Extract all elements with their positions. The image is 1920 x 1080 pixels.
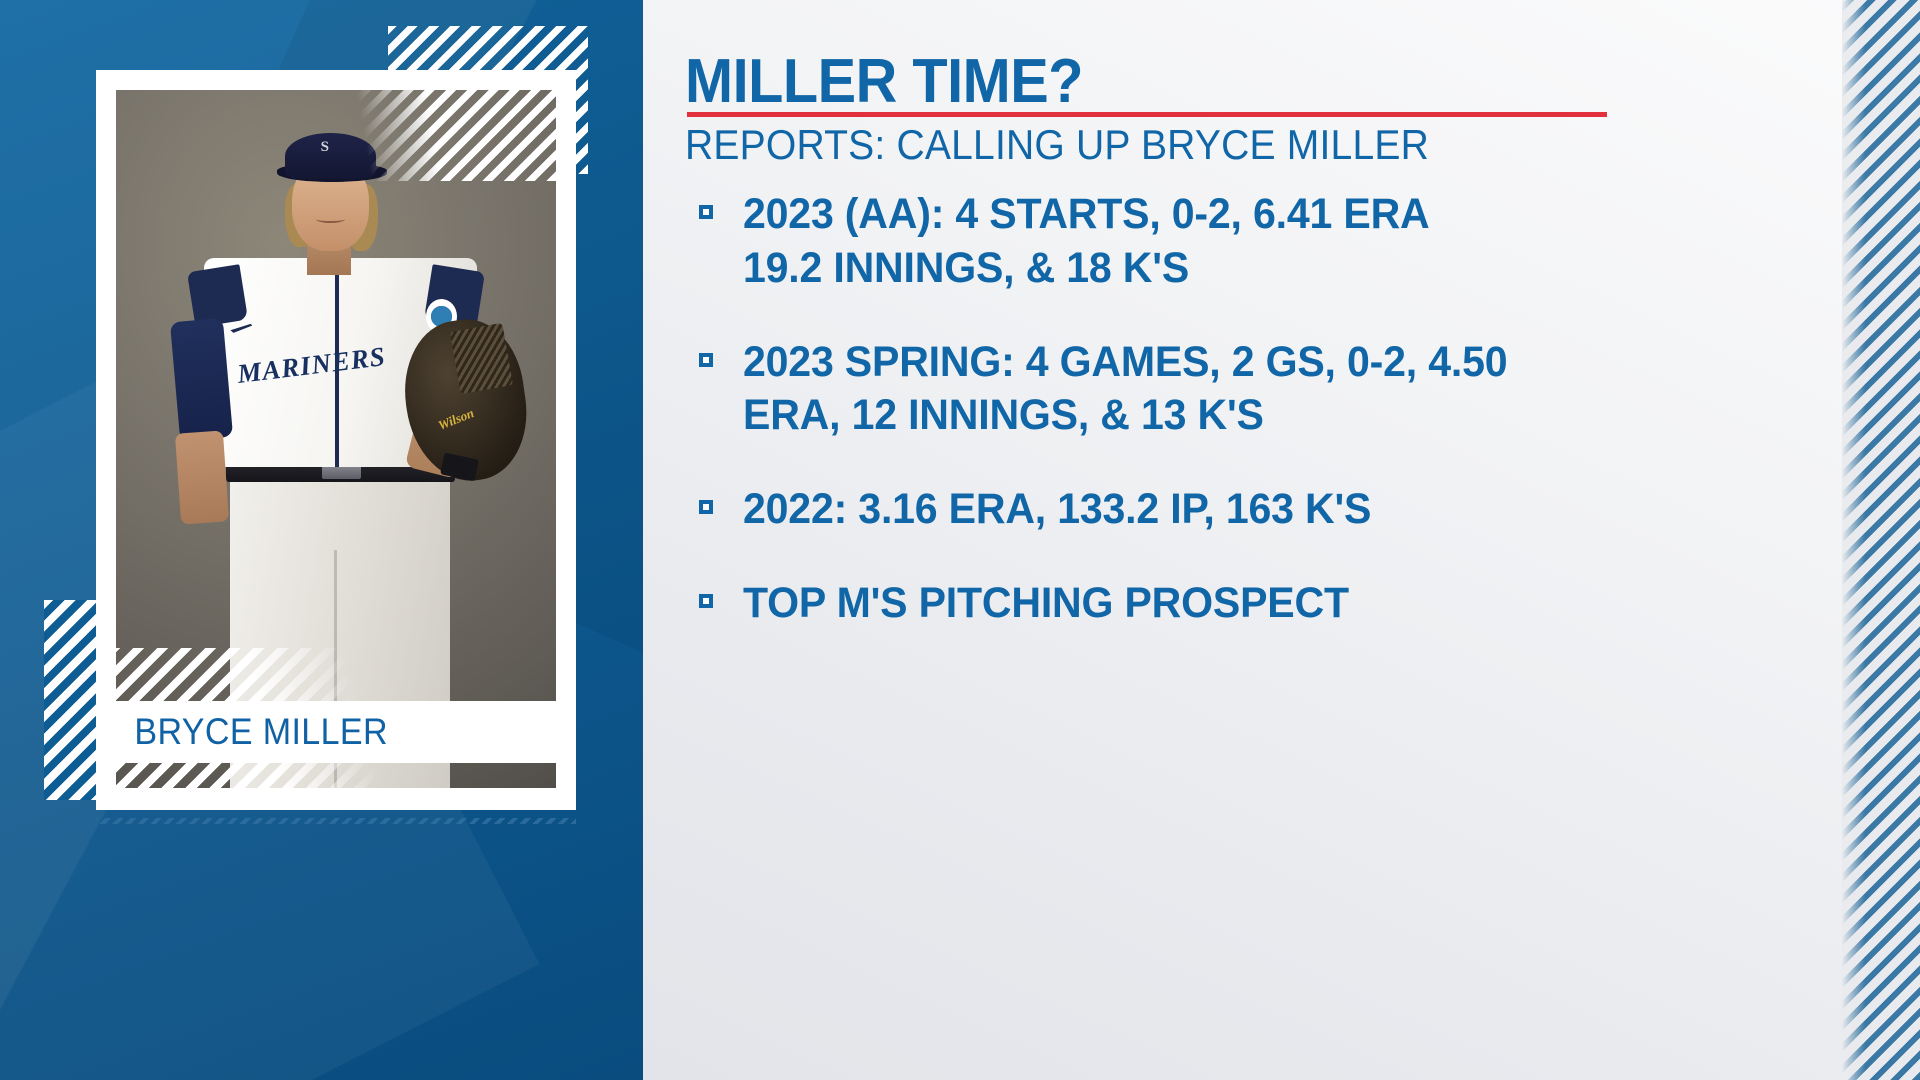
content-wrapper: MILLER TIME? REPORTS: CALLING UP BRYCE M…: [685, 0, 1785, 1080]
list-item-text: TOP M'S PITCHING PROSPECT: [743, 577, 1700, 631]
player-arm-left: [174, 430, 229, 524]
list-item-text: 2023 SPRING: 4 GAMES, 2 GS, 0-2, 4.50 ER…: [743, 336, 1700, 444]
list-item-line: 2023 SPRING: 4 GAMES, 2 GS, 0-2, 4.50: [743, 336, 1700, 390]
page-title: MILLER TIME?: [685, 46, 1083, 117]
broadcast-graphic: MARINERS S: [0, 0, 1920, 1080]
list-item: 2022: 3.16 ERA, 133.2 IP, 163 K'S: [685, 483, 1745, 537]
right-edge-stripes: [1842, 0, 1920, 1080]
page-subtitle: REPORTS: CALLING UP BRYCE MILLER: [685, 121, 1429, 169]
square-bullet-icon: [699, 500, 713, 514]
list-item: 2023 (AA): 4 STARTS, 0-2, 6.41 ERA 19.2 …: [685, 188, 1745, 296]
square-bullet-icon: [699, 205, 713, 219]
stat-bullet-list: 2023 (AA): 4 STARTS, 0-2, 6.41 ERA 19.2 …: [685, 188, 1745, 671]
jersey-wordmark: MARINERS: [235, 341, 387, 390]
player-name: BRYCE MILLER: [116, 711, 388, 753]
list-item: TOP M'S PITCHING PROSPECT: [685, 577, 1745, 631]
list-item-text: 2022: 3.16 ERA, 133.2 IP, 163 K'S: [743, 483, 1700, 537]
list-item-line: 2022: 3.16 ERA, 133.2 IP, 163 K'S: [743, 483, 1700, 537]
list-item-text: 2023 (AA): 4 STARTS, 0-2, 6.41 ERA 19.2 …: [743, 188, 1700, 296]
jersey-shoulder-left: [187, 264, 248, 327]
square-bullet-icon: [699, 353, 713, 367]
square-bullet-icon: [699, 594, 713, 608]
content-panel: MILLER TIME? REPORTS: CALLING UP BRYCE M…: [643, 0, 1920, 1080]
title-divider: [687, 112, 1607, 117]
cap-logo-icon: S: [321, 140, 329, 155]
card-underline-decor: [96, 818, 576, 824]
list-item: 2023 SPRING: 4 GAMES, 2 GS, 0-2, 4.50 ER…: [685, 336, 1745, 444]
stripe-fade: [1842, 0, 1920, 1080]
list-item-line: 19.2 INNINGS, & 18 K'S: [743, 242, 1700, 296]
player-photo: MARINERS S: [116, 90, 556, 788]
player-photo-card: MARINERS S: [96, 70, 576, 810]
list-item-line: TOP M'S PITCHING PROSPECT: [743, 577, 1700, 631]
player-nameplate: BRYCE MILLER: [116, 701, 556, 763]
undershirt-sleeve: [170, 318, 233, 441]
list-item-line: 2023 (AA): 4 STARTS, 0-2, 6.41 ERA: [743, 188, 1700, 242]
glove-webbing: [450, 323, 513, 394]
photo-stripe-overlay-top: [354, 90, 556, 181]
list-item-line: ERA, 12 INNINGS, & 13 K'S: [743, 389, 1700, 443]
